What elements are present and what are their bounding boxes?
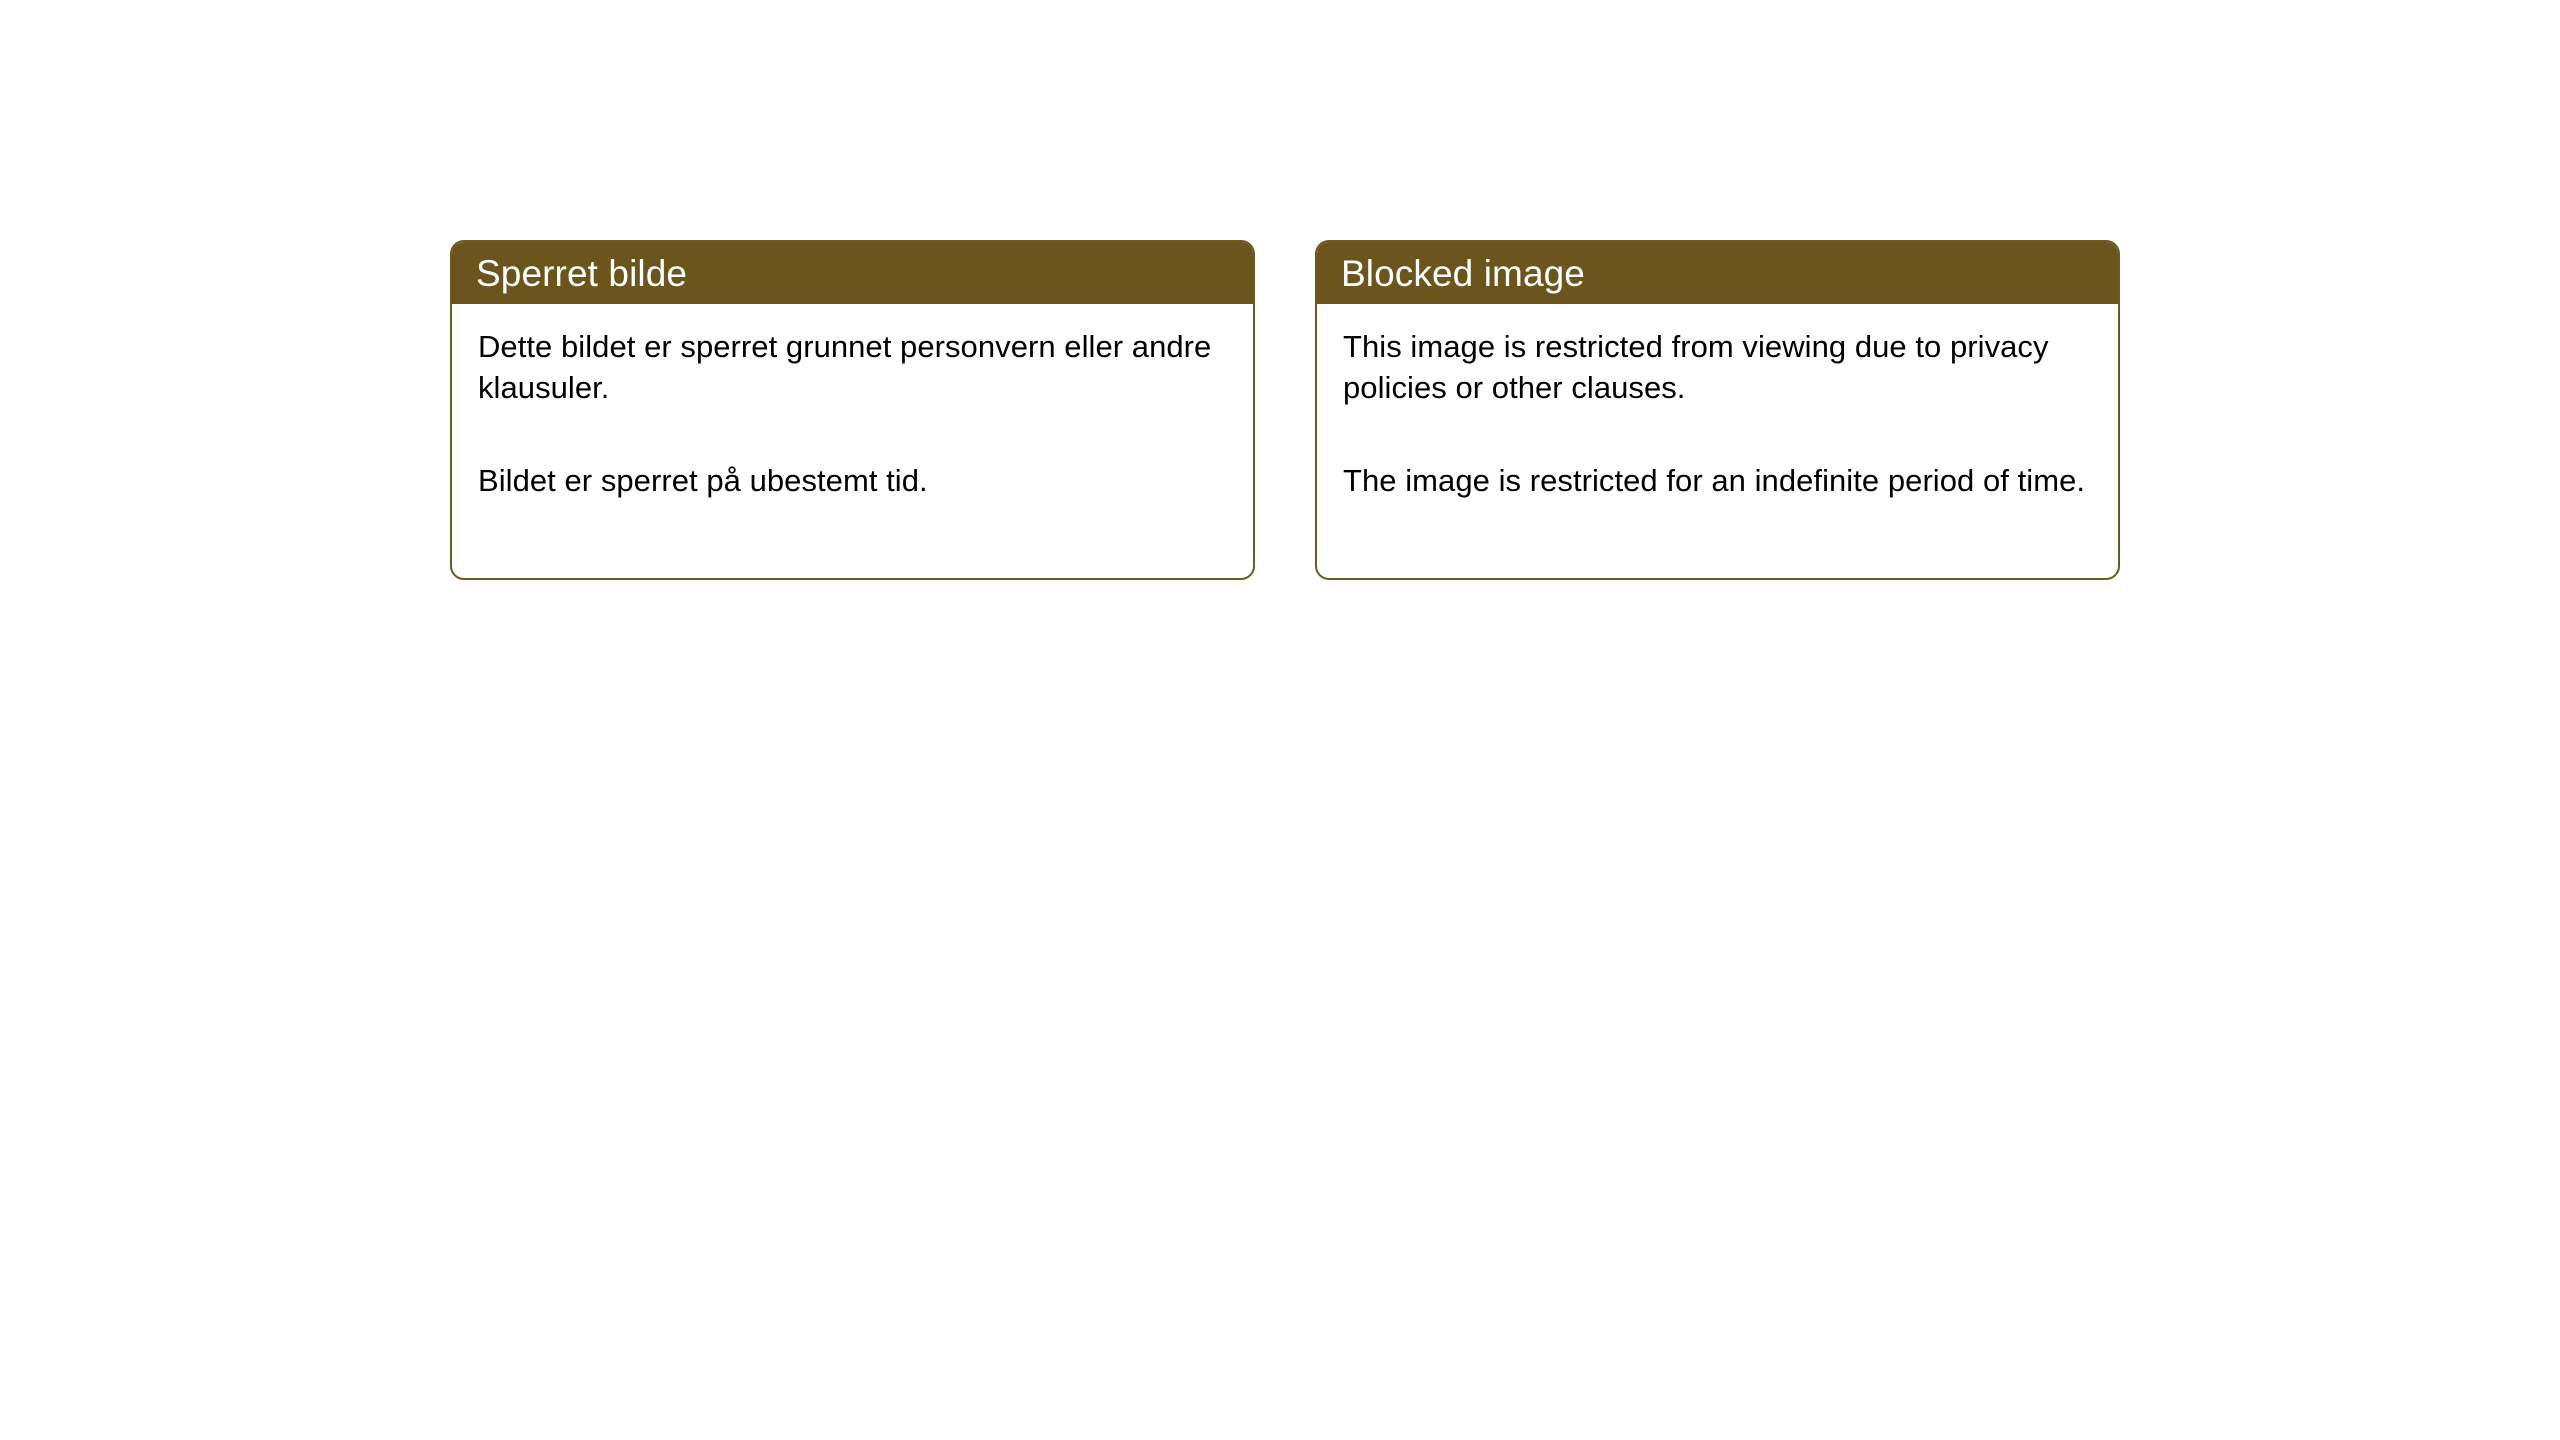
card-body-norwegian: Dette bildet er sperret grunnet personve…: [452, 304, 1253, 578]
card-paragraph-secondary-norwegian: Bildet er sperret på ubestemt tid.: [478, 460, 1227, 501]
blocked-image-card-english: Blocked image This image is restricted f…: [1315, 240, 2120, 580]
card-title-english: Blocked image: [1341, 255, 1585, 292]
card-paragraph-primary-english: This image is restricted from viewing du…: [1343, 326, 2092, 408]
card-header-norwegian: Sperret bilde: [452, 242, 1253, 304]
card-header-english: Blocked image: [1317, 242, 2118, 304]
card-paragraph-secondary-english: The image is restricted for an indefinit…: [1343, 460, 2092, 501]
card-body-english: This image is restricted from viewing du…: [1317, 304, 2118, 578]
blocked-image-card-norwegian: Sperret bilde Dette bildet er sperret gr…: [450, 240, 1255, 580]
card-title-norwegian: Sperret bilde: [476, 255, 687, 292]
blocked-image-notice-group: Sperret bilde Dette bildet er sperret gr…: [450, 240, 2120, 580]
card-paragraph-primary-norwegian: Dette bildet er sperret grunnet personve…: [478, 326, 1227, 408]
